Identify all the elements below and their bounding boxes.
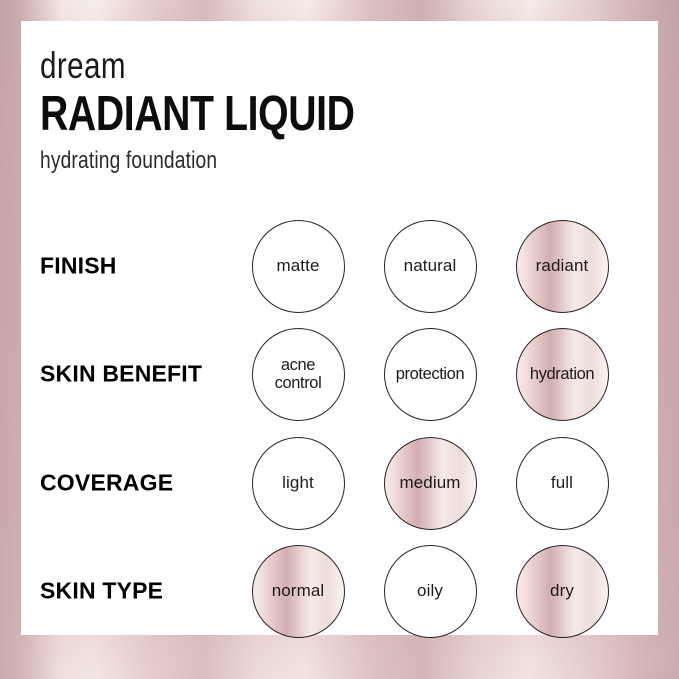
attribute-option[interactable]: oily <box>384 545 477 638</box>
attribute-option-selected[interactable]: hydration <box>516 328 609 421</box>
attribute-option-selected[interactable]: radiant <box>516 220 609 313</box>
attribute-row: SKIN BENEFITacne controlprotectionhydrat… <box>21 326 658 422</box>
attribute-option[interactable]: acne control <box>252 328 345 421</box>
attribute-option-label: protection <box>393 365 467 383</box>
attribute-option[interactable]: matte <box>252 220 345 313</box>
attribute-grid: FINISHmattenaturalradiantSKIN BENEFITacn… <box>21 21 658 635</box>
attribute-option-selected[interactable]: medium <box>384 437 477 530</box>
attribute-option-label: dry <box>547 581 577 600</box>
attribute-row-label: SKIN TYPE <box>40 578 163 605</box>
attribute-row: COVERAGElightmediumfull <box>21 435 658 531</box>
attribute-option[interactable]: protection <box>384 328 477 421</box>
attribute-option-label: full <box>548 473 576 492</box>
attribute-option[interactable]: full <box>516 437 609 530</box>
attribute-option-label: normal <box>269 581 328 600</box>
attribute-row-label: SKIN BENEFIT <box>40 361 202 388</box>
attribute-row: FINISHmattenaturalradiant <box>21 218 658 314</box>
attribute-option-label: matte <box>273 256 322 275</box>
attribute-option-label: acne control <box>272 356 325 393</box>
attribute-option-label: oily <box>414 581 446 600</box>
attribute-option-label: medium <box>396 473 463 492</box>
attribute-option-selected[interactable]: dry <box>516 545 609 638</box>
attribute-row-label: FINISH <box>40 253 117 280</box>
content-panel: dream RADIANT LIQUID hydrating foundatio… <box>21 21 658 635</box>
attribute-option-label: radiant <box>533 256 592 275</box>
attribute-row-label: COVERAGE <box>40 470 173 497</box>
attribute-option-label: natural <box>401 256 460 275</box>
product-infographic-poster: dream RADIANT LIQUID hydrating foundatio… <box>0 0 679 679</box>
attribute-option-label: light <box>279 473 317 492</box>
attribute-option[interactable]: natural <box>384 220 477 313</box>
attribute-row: SKIN TYPEnormaloilydry <box>21 543 658 639</box>
attribute-option-selected[interactable]: normal <box>252 545 345 638</box>
attribute-option[interactable]: light <box>252 437 345 530</box>
attribute-option-label: hydration <box>527 365 597 383</box>
